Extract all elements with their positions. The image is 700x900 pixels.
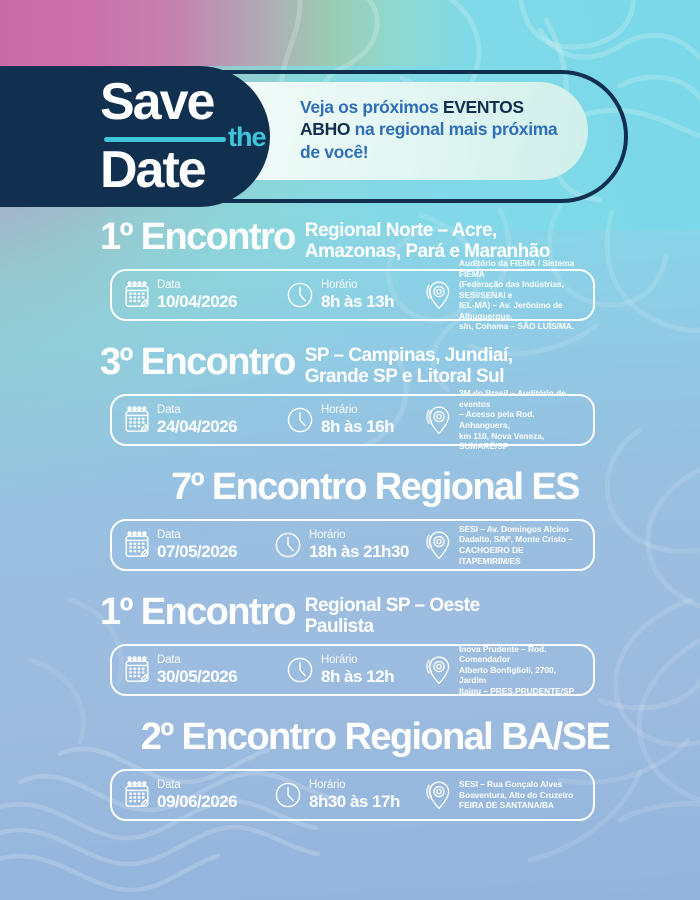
clock-icon [286,406,314,434]
event-date-field: Data 30/05/2026 [124,654,286,686]
date-label: Data [157,654,237,667]
date-value: 30/05/2026 [157,667,237,686]
date-label: Data [157,529,237,542]
event-number-title: 3º Encontro [100,342,295,383]
logo-date-text: Date [100,144,205,196]
event-time-field: Horário 18h às 21h30 [274,529,426,561]
event-location-field: SESI – Rua Gonçalo Alves Boaventura, Alt… [426,779,583,811]
event-block-5: 2º Encontro Regional BA/SE [0,707,700,832]
logo-save-text: Save [100,76,213,128]
location-pin-icon [426,405,452,435]
tagline-part-1: Veja os próximos [300,97,443,117]
event-address: Inova Prudente – Rod. Comendador Alberto… [459,644,583,697]
event-location-field: SESI – Av. Domingos Alcino Dadalto, S/Nº… [426,524,583,566]
time-value: 8h às 16h [321,417,394,436]
event-details-card: Data 10/04/2026 Horário 8h às 13h [110,269,595,321]
date-label: Data [157,279,237,292]
event-date-field: Data 09/06/2026 [124,779,274,811]
event-date-text: Data 30/05/2026 [157,654,237,686]
event-block-4: 1º Encontro Regional SP – Oeste Paulista [0,582,700,707]
background-top-pink-strip [0,0,470,66]
event-time-text: Horário 8h às 16h [321,404,394,436]
date-label: Data [157,779,237,792]
save-the-date-poster: Save the Date Veja os próximos EVENTOS A… [0,0,700,900]
time-value: 8h às 12h [321,667,394,686]
event-block-2: 3º Encontro SP – Campinas, Jundiaí, Gran… [0,332,700,457]
event-title-row: 1º Encontro Regional SP – Oeste Paulista [0,592,700,637]
event-time-field: Horário 8h30 às 17h [274,779,426,811]
event-date-text: Data 10/04/2026 [157,279,237,311]
event-block-3: 7º Encontro Regional ES [0,457,700,582]
clock-icon [286,281,314,309]
time-label: Horário [309,779,400,792]
event-title-row: 1º Encontro Regional Norte – Acre, Amazo… [0,217,700,262]
date-value: 07/05/2026 [157,542,237,561]
event-address: SESI – Av. Domingos Alcino Dadalto, S/Nº… [459,524,583,566]
event-date-text: Data 09/06/2026 [157,779,237,811]
date-value: 09/06/2026 [157,792,237,811]
time-label: Horário [309,529,409,542]
event-date-text: Data 07/05/2026 [157,529,237,561]
date-value: 24/04/2026 [157,417,237,436]
event-subtitle: Regional SP – Oeste Paulista [305,592,480,637]
time-label: Horário [321,279,394,292]
calendar-icon [124,781,150,809]
event-subtitle: Regional Norte – Acre, Amazonas, Pará e … [305,217,550,262]
event-subtitle: SP – Campinas, Jundiaí, Grande SP e Lito… [305,342,513,387]
location-pin-icon [426,530,452,560]
event-location-field: Auditório da FIEMA / Sistema FIEMA (Fede… [426,258,583,332]
event-location-field: 3M do Brasil – Auditório de eventos – Ac… [426,388,583,451]
calendar-icon [124,656,150,684]
event-time-text: Horário 8h30 às 17h [309,779,400,811]
event-date-field: Data 07/05/2026 [124,529,274,561]
event-details-card: Data 24/04/2026 Horário 8h às 16h [110,394,595,446]
event-block-1: 1º Encontro Regional Norte – Acre, Amazo… [0,207,700,332]
event-number-title: 1º Encontro [100,217,295,258]
clock-icon [286,656,314,684]
time-label: Horário [321,654,394,667]
event-details-card: Data 30/05/2026 Horário 8h às 12h [110,644,595,696]
event-address: SESI – Rua Gonçalo Alves Boaventura, Alt… [459,779,573,811]
location-pin-icon [426,655,452,685]
event-time-text: Horário 8h às 13h [321,279,394,311]
event-details-card: Data 07/05/2026 Horário 18h às 21h30 [110,519,595,571]
event-title-row: 7º Encontro Regional ES [0,467,700,508]
clock-icon [274,531,302,559]
location-pin-icon [426,780,452,810]
time-value: 18h às 21h30 [309,542,409,561]
event-number-title: 7º Encontro Regional ES [171,467,579,508]
calendar-icon [124,531,150,559]
event-time-field: Horário 8h às 16h [286,404,426,436]
calendar-icon [124,406,150,434]
event-time-text: Horário 18h às 21h30 [309,529,409,561]
event-time-field: Horário 8h às 12h [286,654,426,686]
event-address: 3M do Brasil – Auditório de eventos – Ac… [459,388,583,451]
time-value: 8h às 13h [321,292,394,311]
header-tagline: Veja os próximos EVENTOS ABHO na regiona… [300,96,570,163]
clock-icon [274,781,302,809]
event-date-field: Data 24/04/2026 [124,404,286,436]
event-address: Auditório da FIEMA / Sistema FIEMA (Fede… [459,258,583,332]
calendar-icon [124,281,150,309]
event-title-row: 2º Encontro Regional BA/SE [0,717,700,758]
event-time-field: Horário 8h às 13h [286,279,426,311]
event-title-row: 3º Encontro SP – Campinas, Jundiaí, Gran… [0,342,700,387]
event-location-field: Inova Prudente – Rod. Comendador Alberto… [426,644,583,697]
logo-the-text: the [228,124,266,151]
event-number-title: 1º Encontro [100,592,295,633]
date-label: Data [157,404,237,417]
event-date-field: Data 10/04/2026 [124,279,286,311]
events-list: 1º Encontro Regional Norte – Acre, Amazo… [0,207,700,832]
event-time-text: Horário 8h às 12h [321,654,394,686]
save-the-date-logo: Save the Date [100,74,280,202]
event-details-card: Data 09/06/2026 Horário 8h30 às 17h [110,769,595,821]
time-label: Horário [321,404,394,417]
location-pin-icon [426,280,452,310]
event-number-title: 2º Encontro Regional BA/SE [141,717,609,758]
header-banner: Save the Date Veja os próximos EVENTOS A… [0,66,700,207]
date-value: 10/04/2026 [157,292,237,311]
time-value: 8h30 às 17h [309,792,400,811]
event-date-text: Data 24/04/2026 [157,404,237,436]
